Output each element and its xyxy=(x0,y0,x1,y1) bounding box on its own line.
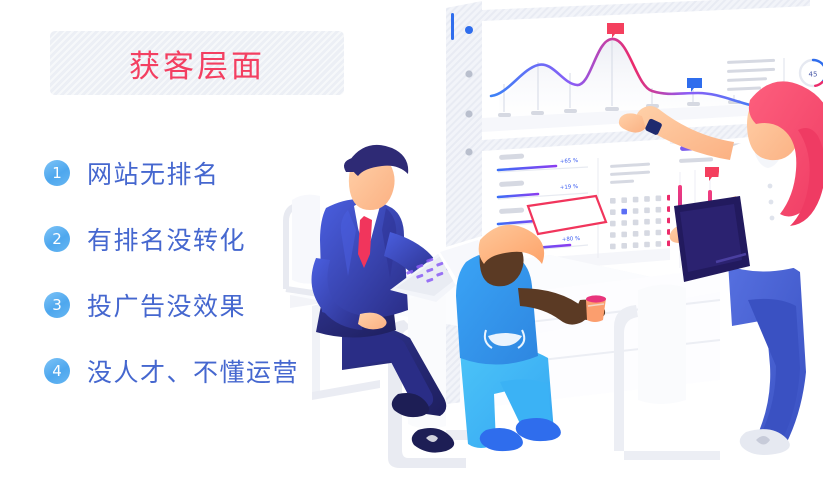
heatmap-cell xyxy=(610,198,616,204)
heatmap-cell xyxy=(610,221,616,227)
list-item-label: 投广告没效果 xyxy=(87,287,246,323)
heatmap-cell xyxy=(610,209,616,215)
heatmap-cell xyxy=(644,230,650,236)
progress-row-value: +19 % xyxy=(560,184,579,191)
sidebar-dot-1[interactable] xyxy=(465,26,473,34)
coffee-cup[interactable] xyxy=(586,295,606,322)
shoe xyxy=(516,418,561,441)
sidebar-dot-2[interactable] xyxy=(465,70,472,77)
heatmap-cell xyxy=(621,209,627,215)
illustration: 45 +65 % xyxy=(250,0,823,500)
heatmap-cell xyxy=(621,197,627,203)
heatmap-cell xyxy=(621,232,627,238)
progress-row-value: +65 % xyxy=(560,158,579,165)
shoe xyxy=(480,428,523,451)
progress-row-value: +80 % xyxy=(562,236,581,243)
sidebar-dot-3[interactable] xyxy=(465,110,472,117)
list-number-badge: 4 xyxy=(44,358,70,384)
heatmap-cell xyxy=(633,208,639,214)
list-item-label: 网站无排名 xyxy=(87,155,220,191)
list-number-badge: 1 xyxy=(44,160,70,186)
list-number-badge: 2 xyxy=(44,226,70,252)
heatmap-cell xyxy=(633,231,639,237)
heatmap-cell xyxy=(610,232,616,238)
heatmap-cell xyxy=(633,197,639,203)
heatmap-cell xyxy=(621,220,627,226)
heatmap-cell xyxy=(621,243,627,249)
hand xyxy=(619,113,646,132)
heatmap-cell xyxy=(644,242,650,248)
heatmap-cell xyxy=(633,220,639,226)
page-title: 获客层面 xyxy=(129,41,265,86)
kpi-gauge-value: 45 xyxy=(809,71,818,79)
heatmap-cell xyxy=(633,242,639,248)
list-number-badge: 3 xyxy=(44,292,70,318)
sidebar-active-indicator xyxy=(451,13,454,40)
heatmap-cell xyxy=(644,219,650,225)
sidebar-dot-4[interactable] xyxy=(465,148,472,155)
heatmap-cell xyxy=(644,196,650,202)
heatmap-cell xyxy=(644,208,650,214)
list-item-label: 有排名没转化 xyxy=(87,221,246,257)
screenshot-root: 获客层面 1 网站无排名 2 有排名没转化 3 投广告没效果 4 没人才、不懂运… xyxy=(0,0,823,500)
heatmap-cell xyxy=(610,244,616,250)
